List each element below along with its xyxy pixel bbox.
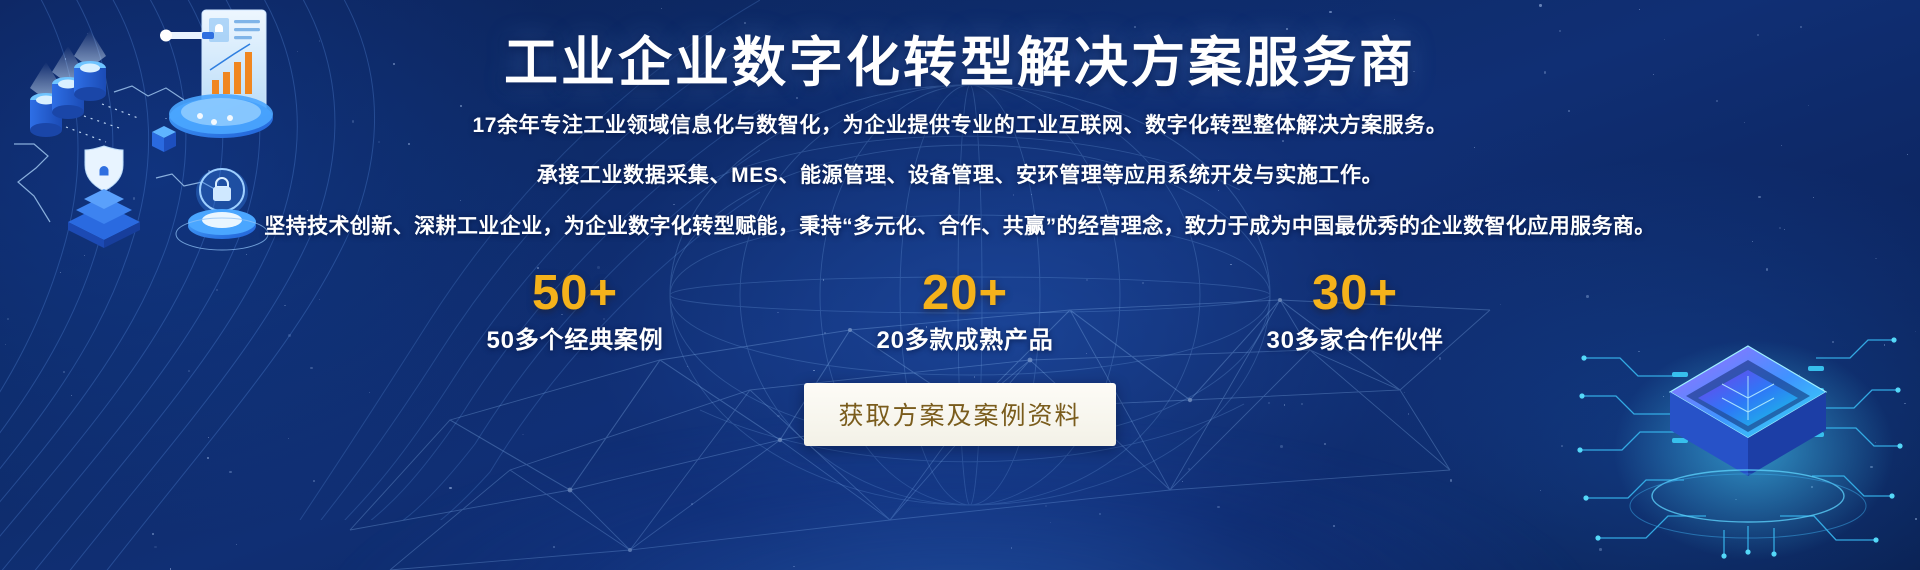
stats-row: 50+ 50多个经典案例 20+ 20多款成熟产品 30+ 30多家合作伙伴 <box>450 269 1470 353</box>
subtitle-line-2: 承接工业数据采集、MES、能源管理、设备管理、安环管理等应用系统开发与实施工作。 <box>264 164 1655 187</box>
stat-label-partners: 30多家合作伙伴 <box>1240 329 1470 353</box>
banner-content: 工业企业数字化转型解决方案服务商 17余年专注工业领域信息化与数智化，为企业提供… <box>0 0 1920 570</box>
stat-label-cases: 50多个经典案例 <box>460 329 690 353</box>
subtitle-line-3: 坚持技术创新、深耕工业企业，为企业数字化转型赋能，秉持“多元化、合作、共赢”的经… <box>264 215 1655 238</box>
subtitle-block: 17余年专注工业领域信息化与数智化，为企业提供专业的工业互联网、数字化转型整体解… <box>264 114 1655 237</box>
stat-item-products: 20+ 20多款成熟产品 <box>850 269 1080 353</box>
stat-number-partners: 30+ <box>1240 269 1470 318</box>
page-title: 工业企业数字化转型解决方案服务商 <box>504 34 1416 92</box>
stat-item-partners: 30+ 30多家合作伙伴 <box>1240 269 1470 353</box>
stat-label-products: 20多款成熟产品 <box>850 329 1080 353</box>
stat-item-cases: 50+ 50多个经典案例 <box>460 269 690 353</box>
stat-number-products: 20+ <box>850 269 1080 318</box>
hero-banner: 工业企业数字化转型解决方案服务商 17余年专注工业领域信息化与数智化，为企业提供… <box>0 0 1920 570</box>
get-solution-materials-button[interactable]: 获取方案及案例资料 <box>804 383 1115 446</box>
stat-number-cases: 50+ <box>460 269 690 318</box>
subtitle-line-1: 17余年专注工业领域信息化与数智化，为企业提供专业的工业互联网、数字化转型整体解… <box>264 114 1655 137</box>
cta-wrapper: 获取方案及案例资料 <box>804 383 1115 446</box>
